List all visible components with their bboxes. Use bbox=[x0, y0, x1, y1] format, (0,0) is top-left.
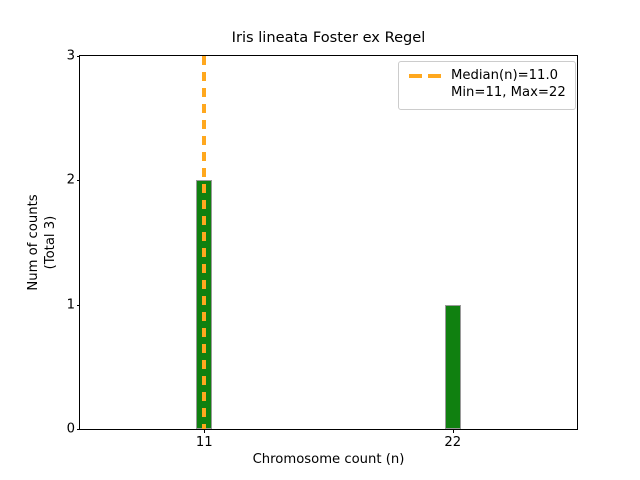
ytick-label-3: 3 bbox=[67, 49, 75, 62]
legend-label-median: Median(n)=11.0 bbox=[451, 68, 558, 85]
ytick-label-0: 0 bbox=[67, 422, 75, 435]
legend: Median(n)=11.0 Min=11, Max=22 bbox=[398, 61, 576, 110]
plot-area: 0 1 2 3 11 22 bbox=[79, 55, 578, 430]
legend-label-minmax: Min=11, Max=22 bbox=[408, 85, 566, 102]
ytick-mark-1 bbox=[77, 305, 81, 306]
y-axis-label-text: Num of counts (Total 3) bbox=[26, 194, 59, 290]
figure-canvas: Iris lineata Foster ex Regel 0 1 2 3 11 … bbox=[0, 0, 640, 480]
x-axis-label: Chromosome count (n) bbox=[79, 452, 578, 467]
legend-entry-median: Median(n)=11.0 bbox=[408, 68, 566, 85]
xtick-mark-22 bbox=[453, 429, 454, 433]
ytick-mark-3 bbox=[77, 56, 81, 57]
ytick-mark-0 bbox=[77, 429, 81, 430]
xtick-mark-11 bbox=[204, 429, 205, 433]
xtick-label-11: 11 bbox=[196, 435, 213, 450]
chart-title: Iris lineata Foster ex Regel bbox=[79, 29, 578, 46]
ytick-label-2: 2 bbox=[67, 174, 75, 187]
ytick-mark-2 bbox=[77, 180, 81, 181]
median-line bbox=[202, 56, 206, 429]
xtick-label-22: 22 bbox=[444, 435, 461, 450]
y-axis-label: Num of counts (Total 3) bbox=[26, 55, 66, 430]
ytick-label-1: 1 bbox=[67, 298, 75, 311]
legend-dashed-line-icon bbox=[408, 69, 443, 83]
bar-n-22[interactable] bbox=[445, 305, 461, 429]
